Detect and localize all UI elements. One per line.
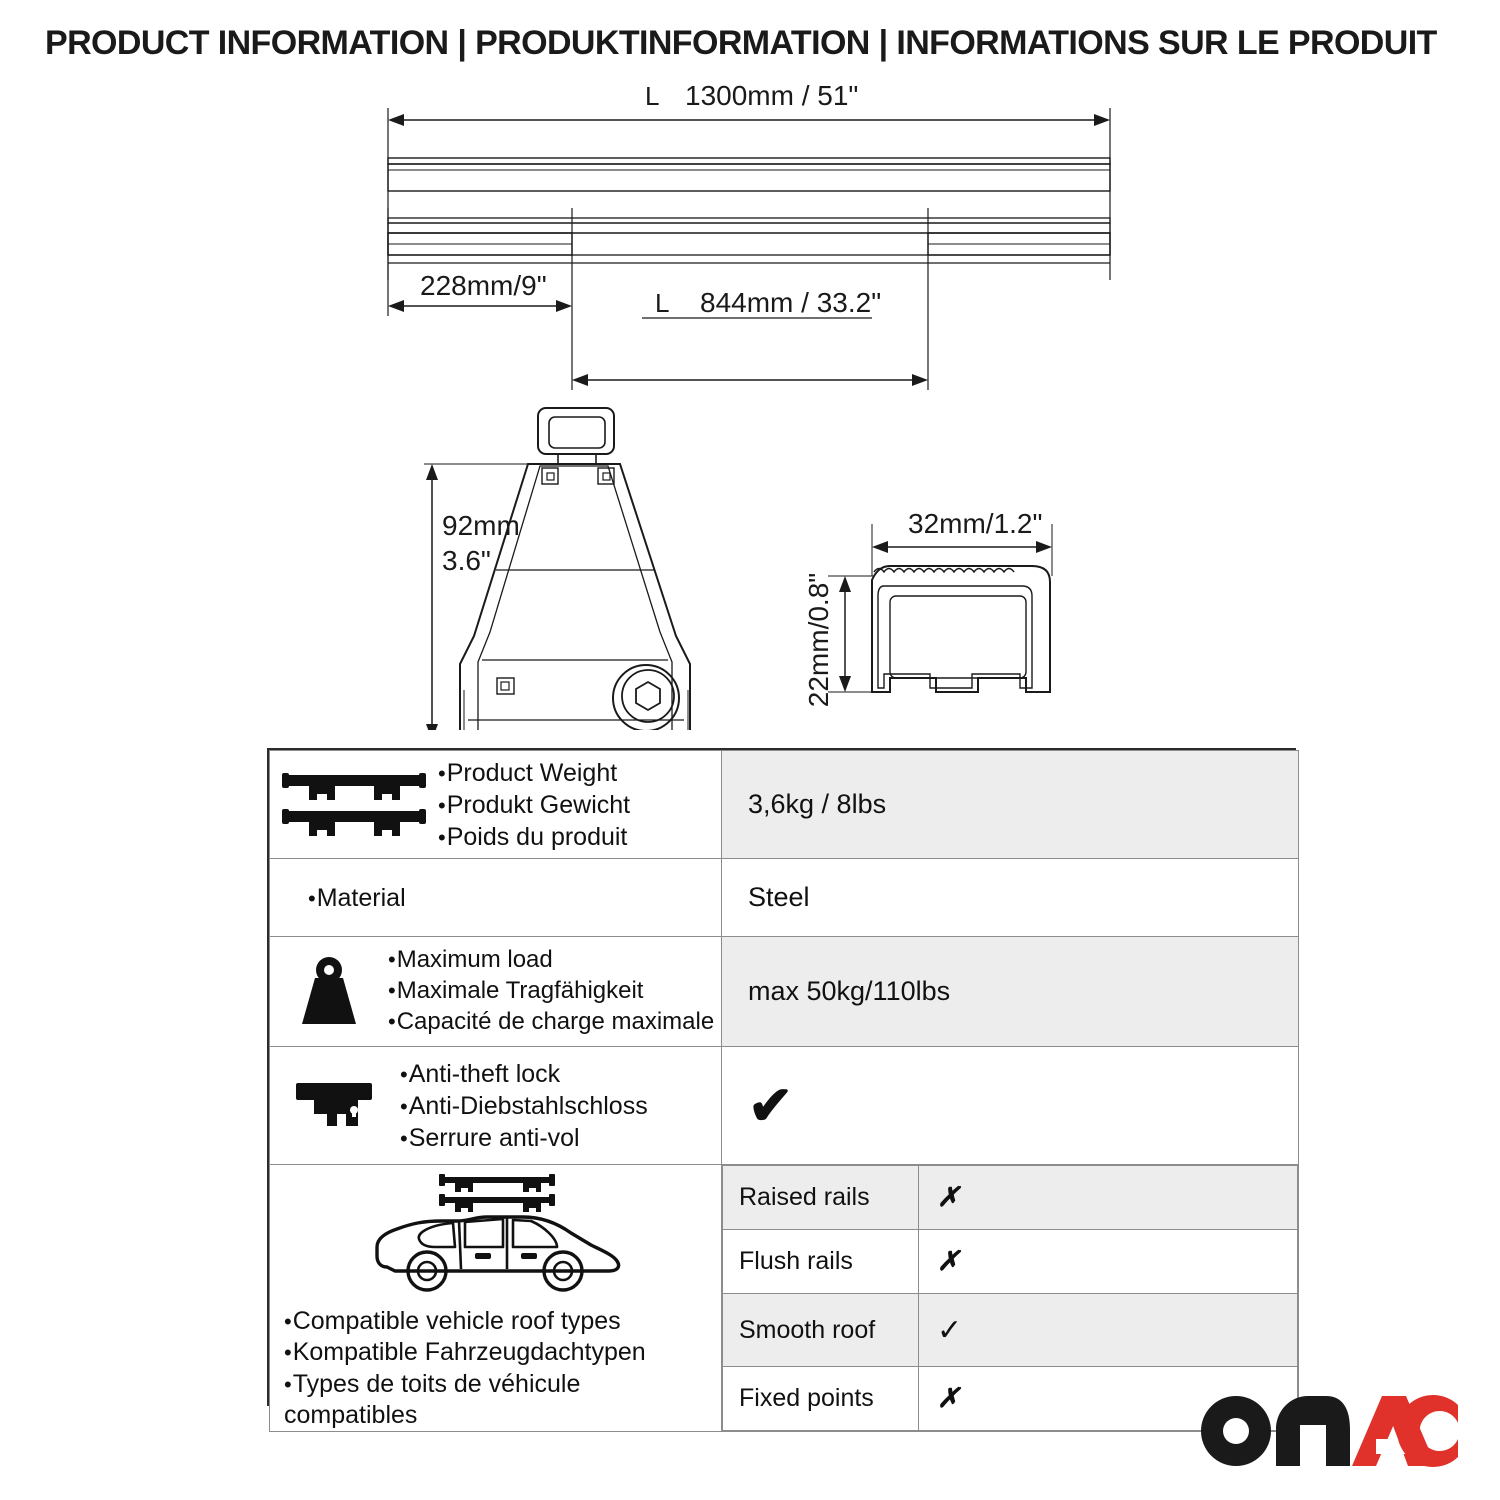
cross-icon: ✗ <box>923 1182 960 1212</box>
weight-label-de: Produkt Gewicht <box>438 789 721 821</box>
lock-value-cell: ✔ <box>722 1047 1299 1165</box>
omac-logo <box>1200 1396 1458 1466</box>
page-title: PRODUCT INFORMATION | PRODUKTINFORMATION… <box>45 24 1465 63</box>
roof-type-name: Flush rails <box>723 1230 919 1294</box>
roof-type-name: Raised rails <box>723 1166 919 1230</box>
weight-label-en: Product Weight <box>438 757 721 789</box>
roof-types-table: Raised rails ✗ Flush rails ✗ Smooth roof… <box>722 1165 1298 1431</box>
material-label-cell: Material <box>270 859 722 937</box>
dim-label-profile-height: 22mm/0.8" <box>803 573 834 707</box>
weight-label-fr: Poids du produit <box>438 821 721 853</box>
lock-foot-icon <box>270 1075 400 1137</box>
lock-label-de: Anti-Diebstahlschloss <box>400 1090 721 1122</box>
compat-label-cell: Compatible vehicle roof types Kompatible… <box>270 1165 722 1432</box>
table-row: Product Weight Produkt Gewicht Poids du … <box>270 751 1299 859</box>
product-information-page: PRODUCT INFORMATION | PRODUKTINFORMATION… <box>0 0 1500 1500</box>
material-value: Steel <box>722 882 1298 913</box>
max-load-label-fr: Capacité de charge maximale <box>388 1007 721 1038</box>
weight-labels: Product Weight Produkt Gewicht Poids du … <box>438 757 721 853</box>
technical-drawings: L 1300mm / 51" 228mm/9" L 844mm / 33.2" … <box>0 80 1500 730</box>
dim-label-end-offset: 228mm/9" <box>420 270 547 301</box>
logo-letter-m <box>1276 1396 1350 1466</box>
lock-label-fr: Serrure anti-vol <box>400 1122 721 1154</box>
roof-type-row: Flush rails ✗ <box>723 1230 1298 1294</box>
dim-label-spread-prefix: L <box>655 288 669 318</box>
omac-logo-mark <box>1200 1395 1458 1467</box>
lock-checkmark-icon: ✔ <box>722 1079 1298 1133</box>
roof-type-support: ✗ <box>919 1230 1298 1294</box>
dim-label-bar-length-prefix: L <box>645 81 659 111</box>
max-load-value: max 50kg/110lbs <box>722 976 1298 1007</box>
dim-label-foot-height-mm: 92mm <box>442 510 520 541</box>
roof-type-support: ✓ <box>919 1294 1298 1366</box>
max-load-label-en: Maximum load <box>388 945 721 976</box>
weight-value: 3,6kg / 8lbs <box>722 789 1298 820</box>
roof-rack-bars-icon <box>270 767 438 843</box>
weight-label-cell: Product Weight Produkt Gewicht Poids du … <box>270 751 722 859</box>
roof-type-name: Fixed points <box>723 1366 919 1430</box>
compat-labels: Compatible vehicle roof types Kompatible… <box>270 1306 654 1431</box>
compat-label-en: Compatible vehicle roof types <box>284 1306 654 1337</box>
table-row-compat: Compatible vehicle roof types Kompatible… <box>270 1165 1299 1432</box>
table-row: Anti-theft lock Anti-Diebstahlschloss Se… <box>270 1047 1299 1165</box>
roof-type-row: Smooth roof ✓ <box>723 1294 1298 1366</box>
lock-label-cell: Anti-theft lock Anti-Diebstahlschloss Se… <box>270 1047 722 1165</box>
specifications-table: Product Weight Produkt Gewicht Poids du … <box>267 748 1296 1406</box>
roof-types-cell: Raised rails ✗ Flush rails ✗ Smooth roof… <box>722 1165 1299 1432</box>
roof-type-name: Smooth roof <box>723 1294 919 1366</box>
check-icon: ✓ <box>923 1314 962 1347</box>
lock-label-en: Anti-theft lock <box>400 1058 721 1090</box>
cross-icon: ✗ <box>923 1383 960 1413</box>
cross-icon: ✗ <box>923 1246 960 1276</box>
dim-label-profile-width: 32mm/1.2" <box>908 508 1042 539</box>
weight-icon <box>270 954 388 1030</box>
roof-type-support: ✗ <box>919 1166 1298 1230</box>
roof-type-row: Raised rails ✗ <box>723 1166 1298 1230</box>
material-label-en: Material <box>308 882 721 914</box>
dim-label-foot-height-in: 3.6" <box>442 545 491 576</box>
dim-label-spread: 844mm / 33.2" <box>700 287 881 318</box>
compat-label-fr: Types de toits de véhicule compatibles <box>284 1369 654 1432</box>
table-row: Material Steel <box>270 859 1299 937</box>
max-load-label-cell: Maximum load Maximale Tragfähigkeit Capa… <box>270 937 722 1047</box>
table-row: Maximum load Maximale Tragfähigkeit Capa… <box>270 937 1299 1047</box>
compat-label-de: Kompatible Fahrzeugdachtypen <box>284 1337 654 1368</box>
weight-value-cell: 3,6kg / 8lbs <box>722 751 1299 859</box>
max-load-label-de: Maximale Tragfähigkeit <box>388 976 721 1007</box>
car-with-rack-icon <box>351 1171 641 1300</box>
material-value-cell: Steel <box>722 859 1299 937</box>
dim-label-bar-length: 1300mm / 51" <box>685 80 858 111</box>
max-load-value-cell: max 50kg/110lbs <box>722 937 1299 1047</box>
